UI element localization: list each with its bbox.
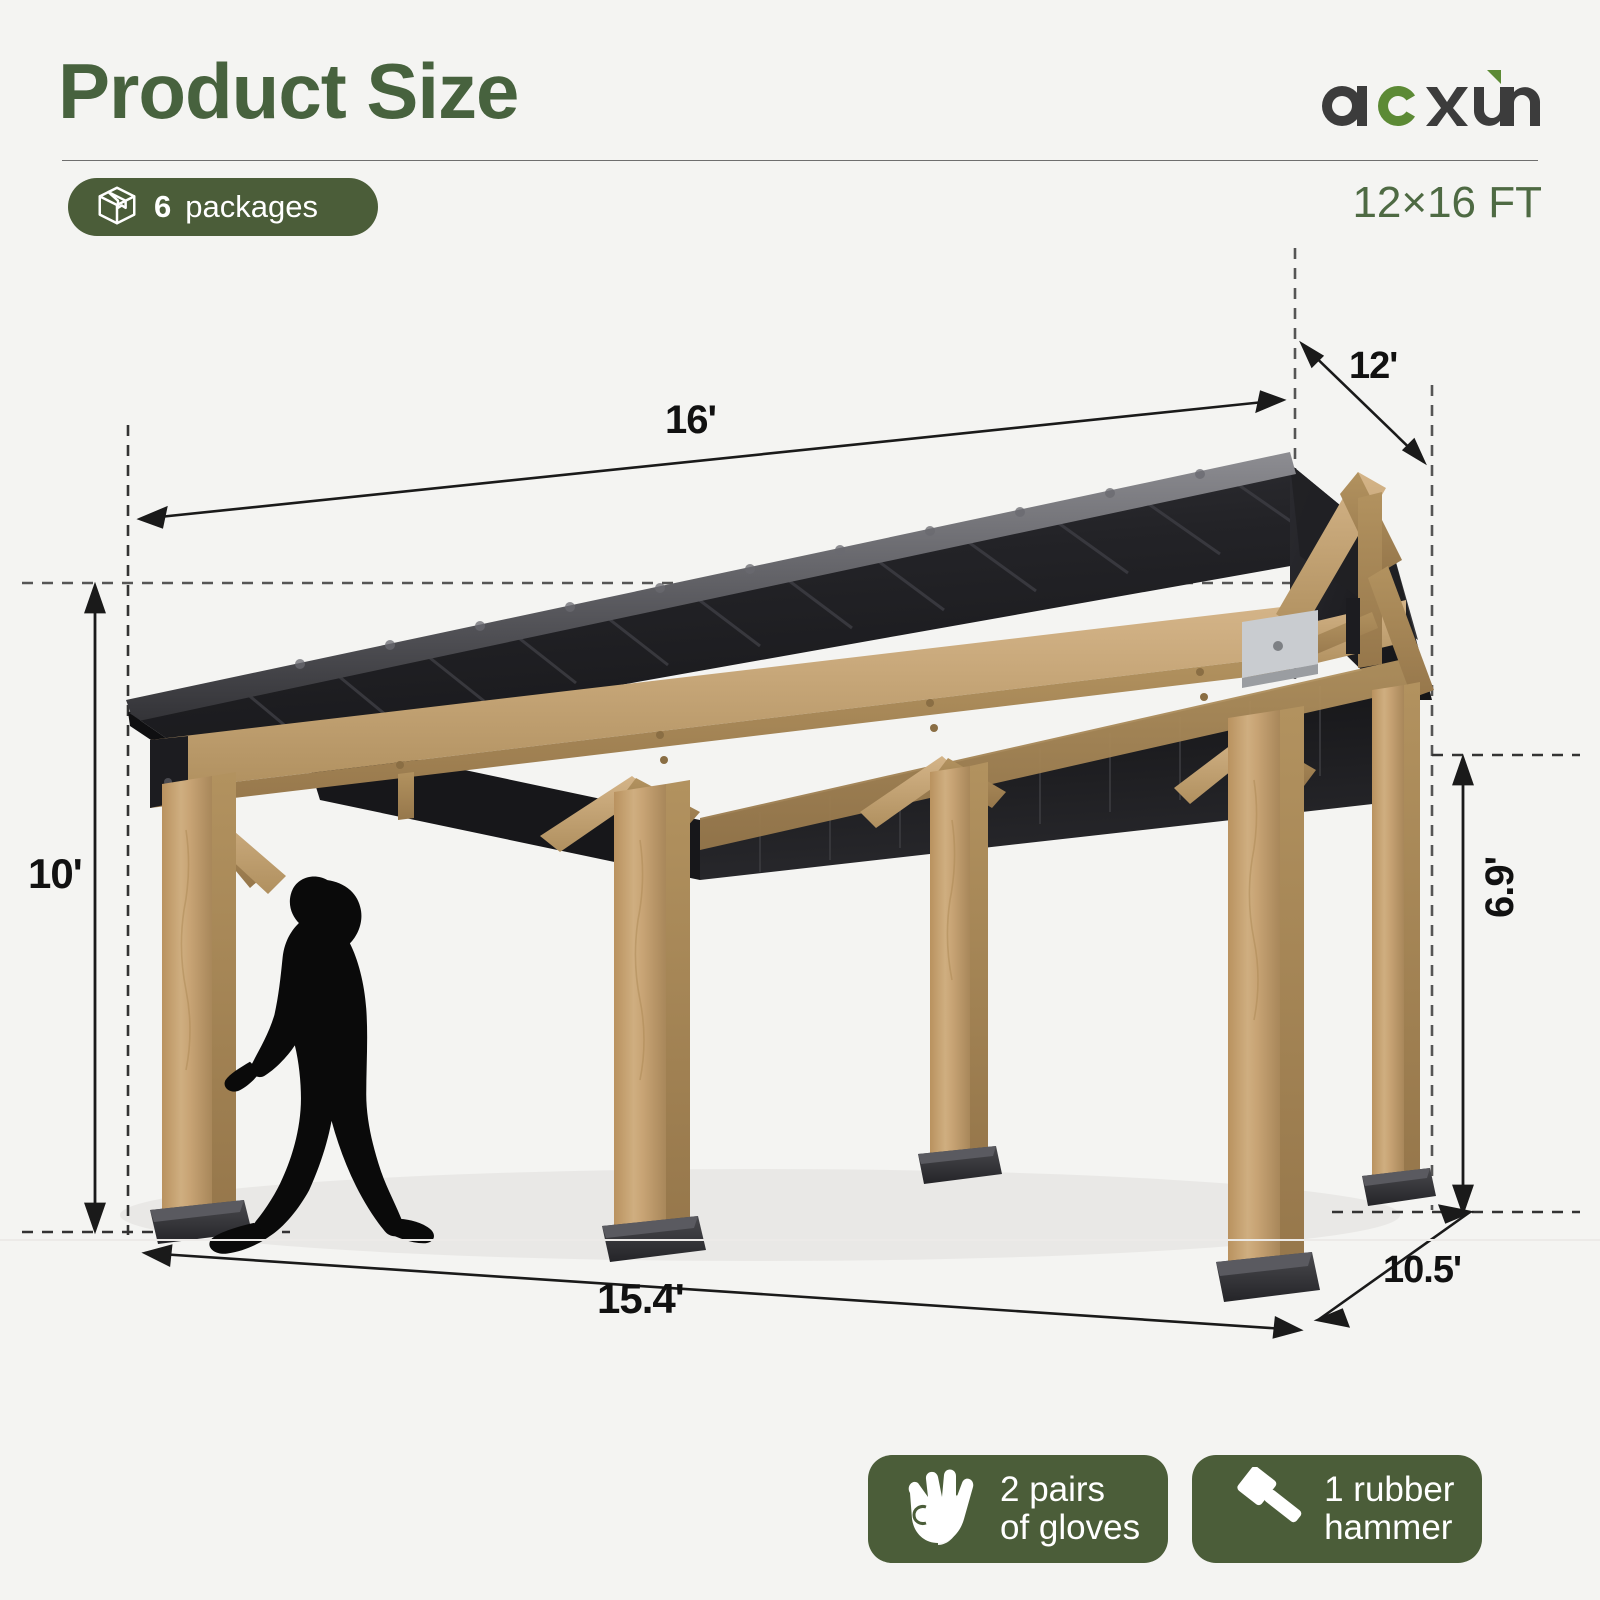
gloves-icon <box>896 1467 982 1552</box>
accessory-label-hammer: 1 rubber hammer <box>1324 1471 1454 1547</box>
hammer-icon <box>1220 1467 1306 1552</box>
accessory-badge-hammer: 1 rubber hammer <box>1192 1455 1482 1563</box>
dimension-label-base-length: 15.4' <box>597 1275 684 1323</box>
dimension-label-eave-height: 6.9' <box>1478 857 1523 918</box>
accessory-badge-gloves: 2 pairs of gloves <box>868 1455 1168 1563</box>
accessory-label-gloves: 2 pairs of gloves <box>1000 1471 1140 1547</box>
dimension-label-base-depth: 10.5' <box>1383 1249 1461 1292</box>
dimension-label-roof-length: 16' <box>665 398 716 443</box>
product-size-infographic: Product Size 6 packages <box>0 0 1600 1600</box>
dimension-arrow-6-9 <box>1454 758 1472 1212</box>
gazebo-post <box>1362 682 1436 1206</box>
dimension-label-peak-height: 10' <box>28 850 82 898</box>
dimension-label-roof-depth: 12' <box>1349 345 1397 388</box>
gazebo-diagram <box>0 0 1600 1600</box>
dimension-arrow-10 <box>86 586 104 1230</box>
accessory-badges: 2 pairs of gloves 1 rubber hammer <box>868 1455 1482 1563</box>
